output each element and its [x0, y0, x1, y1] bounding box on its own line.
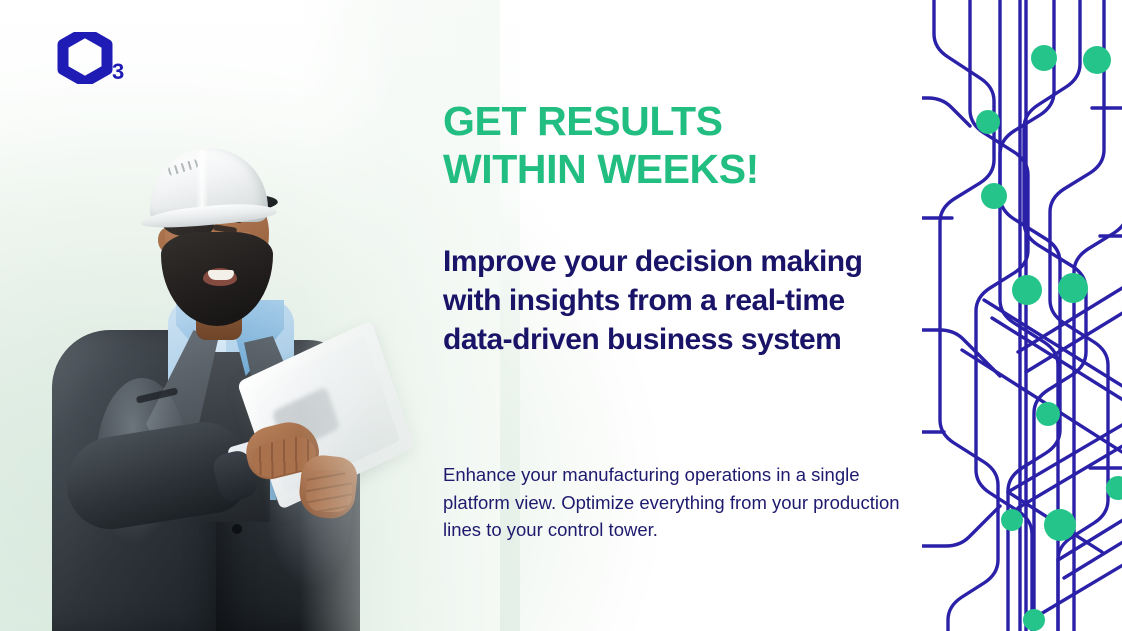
circuit-node: [1083, 46, 1111, 74]
hard-hat-ridge: [196, 150, 208, 212]
marketing-banner: 3 GET RESULTS WITHIN WEEKS! Improve your…: [0, 0, 1122, 631]
o3-logo[interactable]: 3: [55, 32, 145, 84]
right-hand-fingers: [306, 470, 352, 512]
hexagon-o3-logo-icon: 3: [55, 32, 145, 84]
copy-block: GET RESULTS WITHIN WEEKS! Improve your d…: [443, 0, 923, 631]
circuit-node: [1044, 509, 1076, 541]
circuit-node: [1036, 402, 1060, 426]
circuit-node: [1012, 275, 1042, 305]
page-headline: GET RESULTS WITHIN WEEKS!: [443, 97, 759, 194]
circuit-node: [1031, 45, 1057, 71]
jacket-button: [232, 524, 242, 534]
circuit-node: [1023, 609, 1045, 631]
smile-teeth: [208, 270, 234, 280]
svg-text:3: 3: [112, 59, 124, 84]
page-subhead: Improve your decision making with insigh…: [443, 242, 915, 359]
circuit-node: [981, 183, 1007, 209]
circuit-node: [1001, 509, 1023, 531]
circuit-trace-svg: [922, 0, 1122, 631]
circuit-trace-pattern: [922, 0, 1122, 631]
circuit-node: [976, 110, 1000, 134]
circuit-node: [1058, 273, 1088, 303]
engineer-with-tablet-photo: [0, 0, 430, 631]
page-body-text: Enhance your manufacturing operations in…: [443, 461, 921, 544]
